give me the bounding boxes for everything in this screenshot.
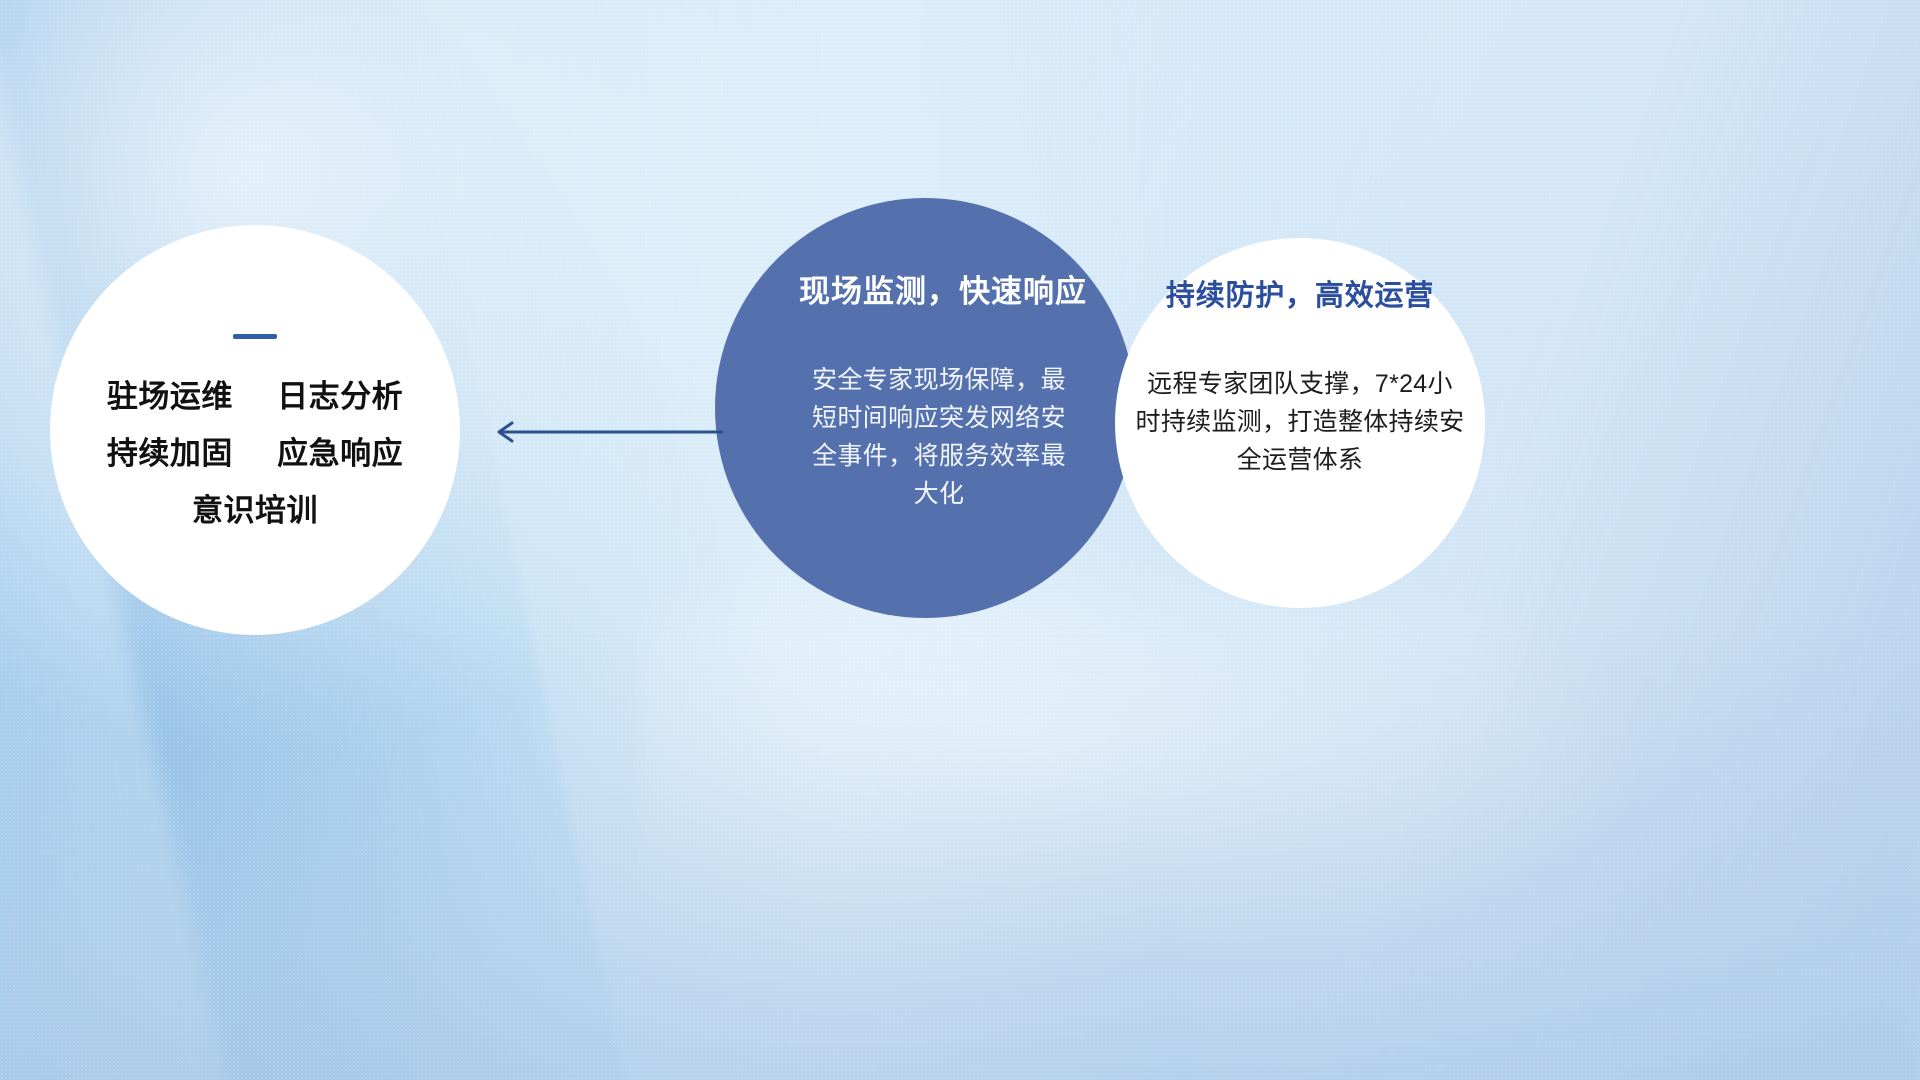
left-keyword-c: 持续加固: [107, 436, 233, 471]
left-keyword-b: 日志分析: [277, 379, 403, 414]
left-keyword-d: 应急响应: [277, 436, 403, 471]
slide-canvas: 驻场运维 日志分析 持续加固 应急响应 意识培训 现场监测，快速响应: [0, 0, 1920, 1080]
right-circle-description: 远程专家团队支撑，7*24小时持续监测，打造整体持续安全运营体系: [1135, 365, 1465, 479]
middle-circle-description: 安全专家现场保障，最短时间响应突发网络安全事件，将服务效率最大化: [804, 361, 1074, 513]
left-keyword-row: 持续加固 应急响应: [107, 438, 403, 469]
right-circle-content: 持续防护，高效运营 远程专家团队支撑，7*24小时持续监测，打造整体持续安全运营…: [1115, 238, 1485, 608]
right-service-circle[interactable]: 持续防护，高效运营 远程专家团队支撑，7*24小时持续监测，打造整体持续安全运营…: [1115, 238, 1485, 608]
middle-circle-content: 现场监测，快速响应 安全专家现场保障，最短时间响应突发网络安全事件，将服务效率最…: [715, 198, 1135, 618]
middle-circle-title: 现场监测，快速响应: [799, 276, 1087, 307]
left-keyword-row: 意识培训: [192, 495, 318, 526]
left-circle-content: 驻场运维 日志分析 持续加固 应急响应 意识培训: [50, 225, 460, 635]
left-service-circle[interactable]: 驻场运维 日志分析 持续加固 应急响应 意识培训: [50, 225, 460, 635]
right-circle-title: 持续防护，高效运营: [1166, 282, 1434, 311]
flow-arrow-icon: [485, 418, 725, 446]
left-circle-keyword-list: 驻场运维 日志分析 持续加固 应急响应 意识培训: [107, 381, 403, 526]
left-keyword-e: 意识培训: [192, 493, 318, 528]
middle-service-circle[interactable]: 现场监测，快速响应 安全专家现场保障，最短时间响应突发网络安全事件，将服务效率最…: [715, 198, 1135, 618]
left-keyword-row: 驻场运维 日志分析: [107, 381, 403, 412]
left-keyword-a: 驻场运维: [107, 379, 233, 414]
accent-dash-icon: [233, 334, 277, 339]
